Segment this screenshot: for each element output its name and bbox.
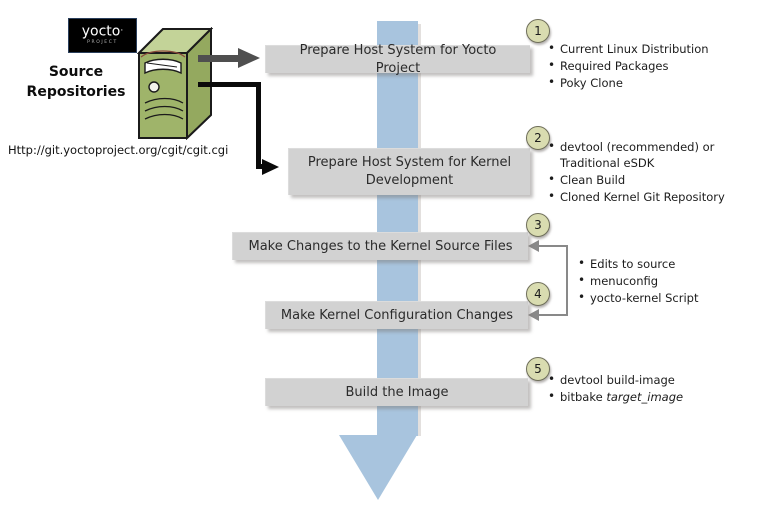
note-item: devtool build-image: [548, 372, 763, 388]
connector-server-to-step2-segment-v: [256, 82, 261, 168]
connector-notes-to-step4-arrowhead-icon: [528, 309, 539, 321]
connector-notes-bracket-vertical: [566, 245, 568, 316]
yocto-project-logo: yocto· PROJECT: [68, 18, 137, 53]
step-badge-1: 1: [526, 19, 550, 43]
note-item: Cloned Kernel Git Repository: [548, 189, 763, 205]
yocto-logo-subtext: PROJECT: [87, 39, 118, 46]
connector-notes-to-step3-arrowhead-icon: [528, 240, 539, 252]
notes-step2: devtool (recommended) or Traditional eSD…: [548, 139, 763, 206]
note-item: yocto-kernel Script: [578, 290, 769, 306]
step-badge-1-number: 1: [534, 24, 542, 38]
yocto-logo-word: yocto: [82, 24, 121, 40]
process-box-step1-label: Prepare Host System for Yocto Project: [276, 42, 520, 77]
note-item: Edits to source: [578, 256, 769, 272]
note-item-argument: target_image: [606, 390, 683, 404]
flow-arrow-head-icon: [339, 435, 417, 500]
step-badge-4-number: 4: [534, 287, 542, 301]
note-item: bitbake target_image: [548, 389, 763, 405]
connector-server-to-step2-arrowhead-icon: [262, 159, 279, 175]
note-item: Required Packages: [548, 58, 763, 74]
process-box-step5-label: Build the Image: [346, 384, 449, 402]
process-box-step3-label: Make Changes to the Kernel Source Files: [249, 238, 513, 256]
note-item: Clean Build: [548, 172, 763, 188]
note-item: Current Linux Distribution: [548, 41, 763, 57]
source-repository-url: Http://git.yoctoproject.org/cgit/cgit.cg…: [8, 143, 228, 157]
process-box-step2-label: Prepare Host System for Kernel Developme…: [299, 154, 520, 189]
step-badge-2-number: 2: [534, 131, 542, 145]
connector-server-to-step1-arrowhead-icon: [238, 48, 260, 68]
process-box-step4-label: Make Kernel Configuration Changes: [281, 307, 513, 325]
process-box-step4[interactable]: Make Kernel Configuration Changes: [265, 301, 528, 329]
process-box-step3[interactable]: Make Changes to the Kernel Source Files: [232, 232, 528, 260]
step-badge-5-number: 5: [534, 362, 542, 376]
note-item: menuconfig: [578, 273, 769, 289]
connector-notes-to-step3-line: [537, 245, 568, 247]
connector-notes-to-step4-line: [537, 314, 568, 316]
source-repositories-label: Source Repositories: [14, 62, 138, 102]
connector-server-to-step2-segment-h1: [198, 82, 261, 87]
step-badge-2: 2: [526, 126, 550, 150]
process-box-step2[interactable]: Prepare Host System for Kernel Developme…: [288, 148, 530, 195]
flow-arrow-shadow: [418, 24, 421, 436]
connector-server-to-step1-line: [198, 55, 240, 62]
notes-step3-and-step4: Edits to source menuconfig yocto-kernel …: [578, 256, 769, 307]
process-box-step1[interactable]: Prepare Host System for Yocto Project: [265, 45, 530, 73]
flow-arrow-shaft: [377, 21, 418, 436]
yocto-logo-dot: ·: [120, 26, 123, 36]
source-title-line-1: Source: [14, 62, 138, 82]
step-badge-3: 3: [526, 213, 550, 237]
source-title-line-2: Repositories: [14, 82, 138, 102]
note-item: Poky Clone: [548, 75, 763, 91]
process-box-step5[interactable]: Build the Image: [265, 378, 528, 406]
notes-step1: Current Linux Distribution Required Pack…: [548, 41, 763, 92]
step-badge-4: 4: [526, 282, 550, 306]
note-item-command: bitbake: [560, 390, 606, 404]
note-item: devtool (recommended) or Traditional eSD…: [548, 139, 763, 171]
yocto-logo-wordmark: yocto·: [82, 25, 123, 39]
diagram-canvas: yocto· PROJECT Source Repositories Http:…: [0, 0, 769, 517]
notes-step5: devtool build-image bitbake target_image: [548, 372, 763, 406]
step-badge-3-number: 3: [534, 218, 542, 232]
step-badge-5: 5: [526, 357, 550, 381]
